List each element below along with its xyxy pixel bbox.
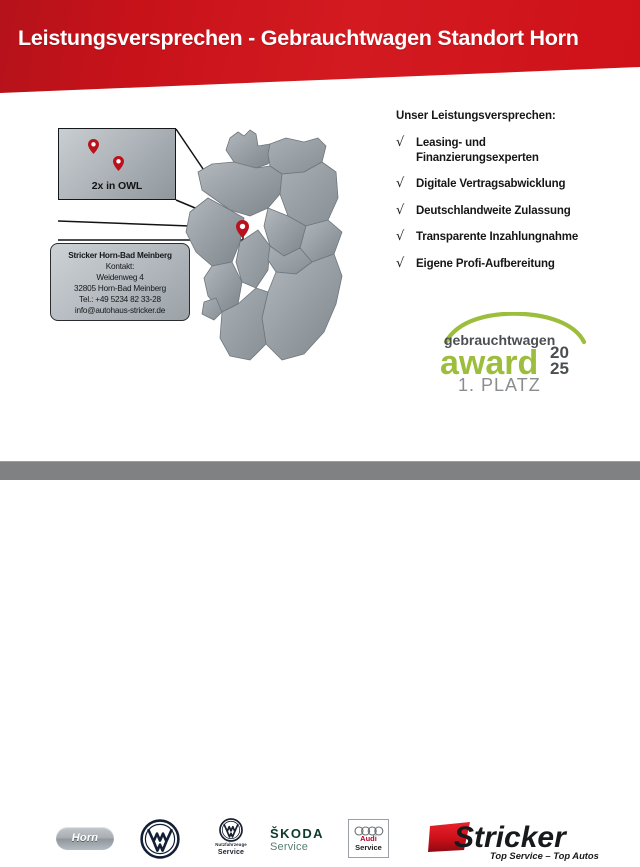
logo-horn: Horn bbox=[56, 827, 114, 850]
contact-name: Stricker Horn-Bad Meinberg bbox=[51, 250, 189, 261]
award-rank: 1. PLATZ bbox=[458, 375, 541, 394]
list-item: √ Deutschlandweite Zulassung bbox=[396, 204, 640, 219]
list-item: √ Eigene Profi-Aufbereitung bbox=[396, 257, 640, 272]
map-pin-icon bbox=[113, 156, 124, 171]
logo-vw-nutzfahrzeuge: Nutzfahrzeuge Service bbox=[207, 818, 255, 857]
contact-phone[interactable]: Tel.: +49 5234 82 33-28 bbox=[51, 294, 189, 305]
award-year-bottom: 25 bbox=[550, 359, 569, 378]
owl-inset-label: 2x in OWL bbox=[59, 180, 175, 192]
list-item-line2: Finanzierungsexperten bbox=[416, 152, 539, 164]
list-item: √ Digitale Vertragsabwicklung bbox=[396, 177, 640, 192]
logo-skoda: ŠKODA Service bbox=[270, 827, 324, 854]
contact-city: 32805 Horn-Bad Meinberg bbox=[51, 283, 189, 294]
logo-skoda-service: Service bbox=[270, 841, 324, 854]
list-item-label: Transparente Inzahlungnahme bbox=[416, 230, 578, 245]
promise-list: √ Leasing- und Finanzierungsexperten √ D… bbox=[396, 136, 640, 283]
contact-email[interactable]: info@autohaus-stricker.de bbox=[51, 305, 189, 316]
award-badge: gebrauchtwagen award 20 25 1. PLATZ bbox=[428, 312, 608, 394]
list-item-label: Eigene Profi-Aufbereitung bbox=[416, 257, 555, 272]
check-icon: √ bbox=[396, 257, 416, 271]
logo-audi-service: Service bbox=[349, 843, 388, 852]
contact-street: Weidenweg 4 bbox=[51, 272, 189, 283]
logo-volkswagen bbox=[140, 819, 180, 859]
vw-logo-icon bbox=[219, 818, 243, 842]
list-item-line1: Leasing- und bbox=[416, 137, 486, 149]
contact-card: Stricker Horn-Bad Meinberg Kontakt: Weid… bbox=[50, 243, 190, 321]
contact-label: Kontakt: bbox=[51, 261, 189, 272]
check-icon: √ bbox=[396, 230, 416, 244]
brand-logo-row: Horn Nutzfahrzeuge Service ŠKODA Serv bbox=[0, 404, 640, 462]
germany-map bbox=[178, 112, 364, 402]
logo-audi: Audi Service bbox=[348, 819, 389, 858]
logo-horn-label: Horn bbox=[56, 827, 114, 850]
logo-stricker: Stricker Top Service – Top Autos bbox=[428, 816, 608, 862]
audi-rings-icon bbox=[354, 823, 384, 833]
promise-heading: Unser Leistungsversprechen: bbox=[396, 110, 556, 122]
logo-vw-caption-2: Service bbox=[207, 848, 255, 857]
page-title: Leistungsversprechen - Gebrauchtwagen St… bbox=[18, 26, 579, 51]
map-pin-icon bbox=[88, 139, 99, 154]
owl-inset-box: 2x in OWL bbox=[58, 128, 176, 200]
list-item-label: Deutschlandweite Zulassung bbox=[416, 204, 571, 219]
slide-canvas: Leistungsversprechen - Gebrauchtwagen St… bbox=[0, 0, 640, 480]
logo-skoda-name: ŠKODA bbox=[270, 827, 324, 841]
check-icon: √ bbox=[396, 177, 416, 191]
stricker-tagline: Top Service – Top Autos bbox=[490, 850, 599, 861]
check-icon: √ bbox=[396, 204, 416, 218]
list-item-label: Leasing- und Finanzierungsexperten bbox=[416, 136, 539, 165]
list-item: √ Leasing- und Finanzierungsexperten bbox=[396, 136, 640, 165]
footer-bar bbox=[0, 462, 640, 480]
check-icon: √ bbox=[396, 136, 416, 150]
list-item-label: Digitale Vertragsabwicklung bbox=[416, 177, 565, 192]
list-item: √ Transparente Inzahlungnahme bbox=[396, 230, 640, 245]
